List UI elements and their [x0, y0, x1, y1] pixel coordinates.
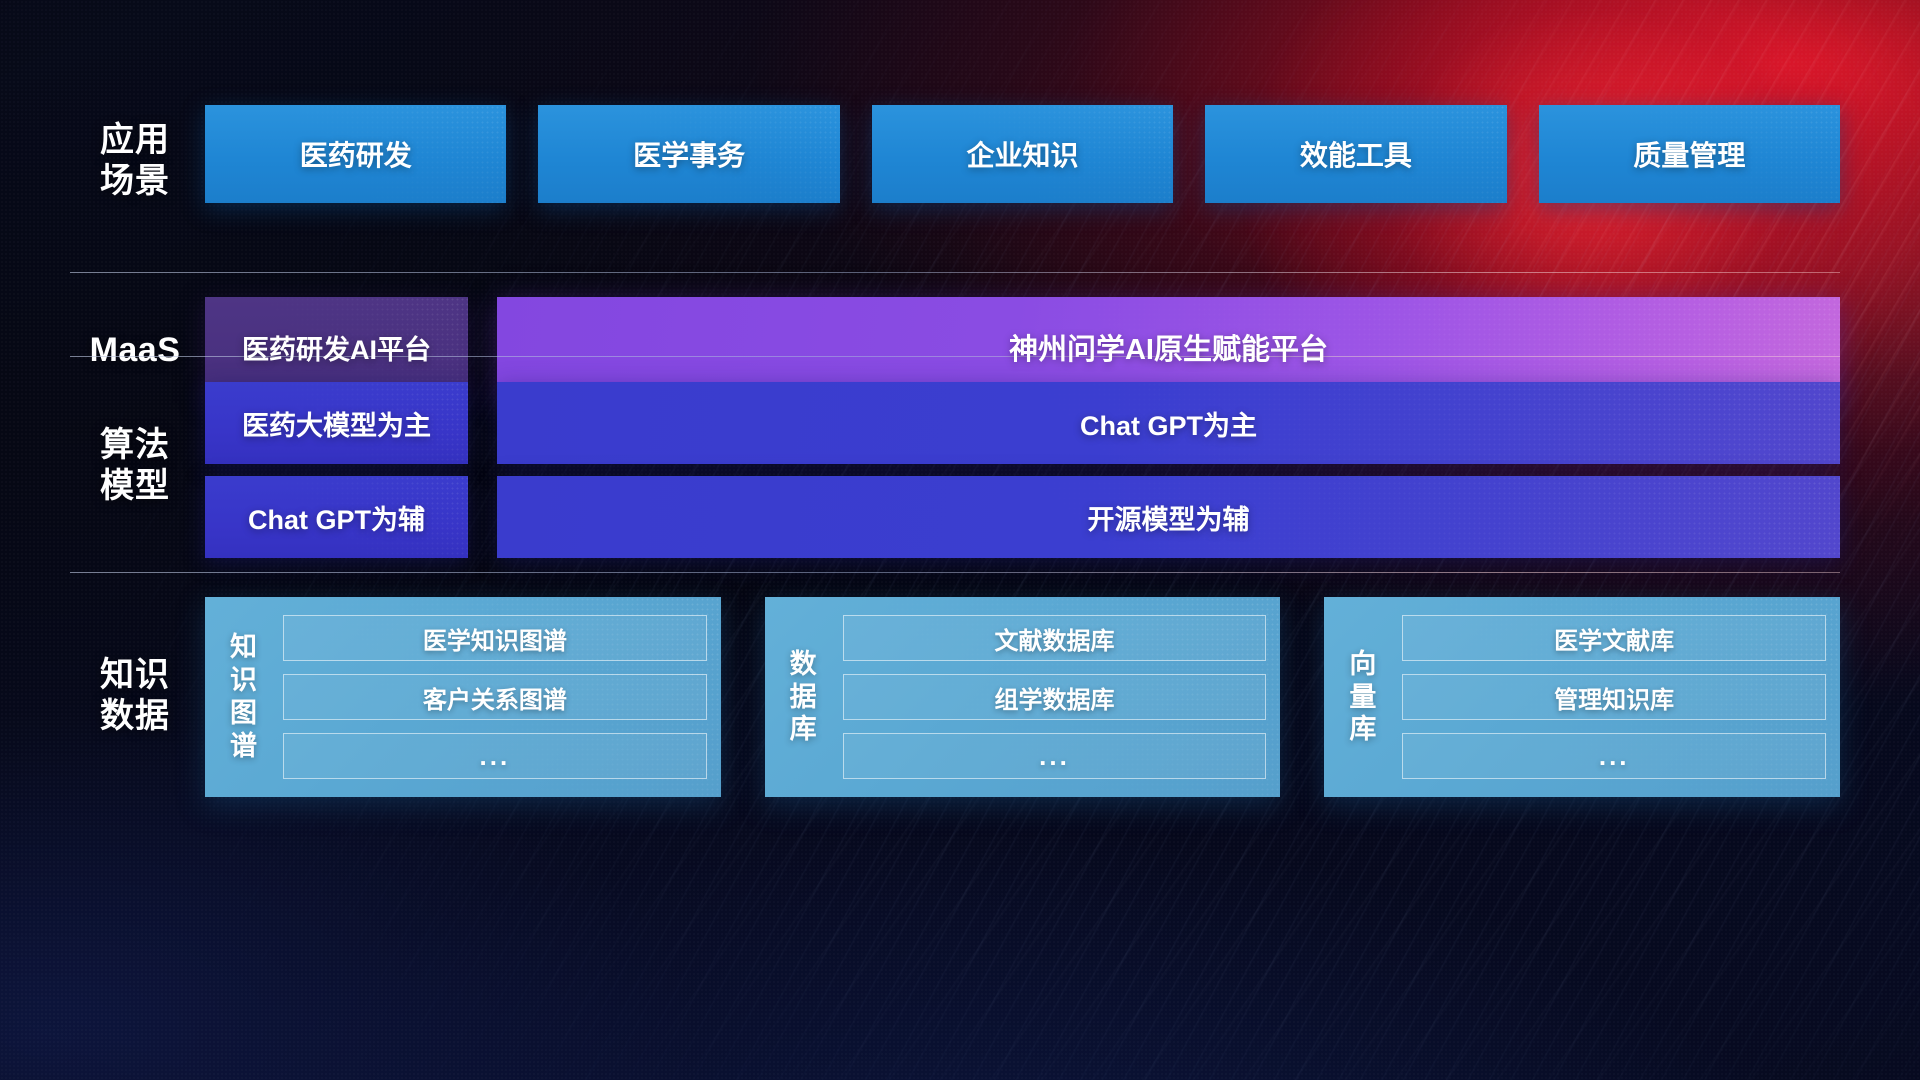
knowledge-item[interactable]: 管理知识库 [1402, 674, 1826, 720]
row-label-algorithm-models: 算法 模型 [70, 425, 200, 508]
row-label-line: 知识 [70, 655, 200, 696]
app-tile-label: 企业知识 [967, 134, 1079, 174]
row-label-line: 模型 [70, 466, 200, 507]
app-tile-medical-affairs[interactable]: 医学事务 [538, 105, 839, 203]
knowledge-card-title: 数据库 [765, 611, 843, 783]
diagram-content: 应用 场景 医药研发 医学事务 企业知识 效能工具 质量管理 [0, 0, 1920, 1080]
maas-tile-label: 神州问学AI原生赋能平台 [1009, 326, 1328, 368]
algorithm-tile-label: Chat GPT为主 [1080, 404, 1257, 443]
diagram-canvas: 应用 场景 医药研发 医学事务 企业知识 效能工具 质量管理 [0, 0, 1920, 1080]
app-tile-enterprise-knowledge[interactable]: 企业知识 [872, 105, 1173, 203]
row-label-application-scenarios: 应用 场景 [70, 120, 200, 203]
algorithm-tile-label: 医药大模型为主 [242, 404, 431, 443]
app-tile-quality-management[interactable]: 质量管理 [1539, 105, 1840, 203]
knowledge-card-knowledge-graph: 知识图谱 医学知识图谱 客户关系图谱 ... [205, 597, 721, 797]
knowledge-item-more[interactable]: ... [843, 733, 1267, 779]
row-label-line: 应用 [70, 120, 200, 161]
knowledge-card-items: 医学知识图谱 客户关系图谱 ... [283, 611, 707, 783]
knowledge-card-title-text: 知识图谱 [230, 631, 258, 763]
knowledge-item-more[interactable]: ... [1402, 733, 1826, 779]
algorithm-tile-label: Chat GPT为辅 [248, 498, 425, 537]
knowledge-card-database: 数据库 文献数据库 组学数据库 ... [765, 597, 1281, 797]
algorithm-tile-pharma-llm-primary[interactable]: 医药大模型为主 [205, 382, 468, 464]
knowledge-card-title: 知识图谱 [205, 611, 283, 783]
knowledge-card-title-text: 数据库 [790, 648, 818, 747]
row-label-knowledge-data: 知识 数据 [70, 655, 200, 738]
divider-application-maas [70, 272, 1840, 273]
algorithm-tile-chatgpt-primary[interactable]: Chat GPT为主 [497, 382, 1840, 464]
application-scenario-row: 医药研发 医学事务 企业知识 效能工具 质量管理 [205, 105, 1840, 203]
knowledge-item[interactable]: 医学文献库 [1402, 615, 1826, 661]
algorithm-row-primary: 医药大模型为主 Chat GPT为主 [205, 382, 1840, 464]
knowledge-data-row: 知识图谱 医学知识图谱 客户关系图谱 ... 数据库 文献数据库 组学数据库 .… [205, 597, 1840, 797]
row-label-line: MaaS [70, 330, 200, 371]
row-label-line: 数据 [70, 696, 200, 737]
app-tile-label: 效能工具 [1300, 134, 1412, 174]
row-label-line: 算法 [70, 425, 200, 466]
row-label-maas: MaaS [70, 330, 200, 371]
knowledge-item[interactable]: 客户关系图谱 [283, 674, 707, 720]
knowledge-card-title-text: 向量库 [1349, 648, 1377, 747]
knowledge-item[interactable]: 组学数据库 [843, 674, 1267, 720]
knowledge-card-items: 文献数据库 组学数据库 ... [843, 611, 1267, 783]
algorithm-row-secondary: Chat GPT为辅 开源模型为辅 [205, 476, 1840, 558]
algorithm-tile-chatgpt-secondary[interactable]: Chat GPT为辅 [205, 476, 468, 558]
knowledge-card-items: 医学文献库 管理知识库 ... [1402, 611, 1826, 783]
app-tile-medicine-rnd[interactable]: 医药研发 [205, 105, 506, 203]
app-tile-label: 质量管理 [1633, 134, 1745, 174]
knowledge-item-more[interactable]: ... [283, 733, 707, 779]
knowledge-card-vector-store: 向量库 医学文献库 管理知识库 ... [1324, 597, 1840, 797]
knowledge-item[interactable]: 医学知识图谱 [283, 615, 707, 661]
app-tile-efficiency-tools[interactable]: 效能工具 [1205, 105, 1506, 203]
app-tile-label: 医药研发 [300, 134, 412, 174]
app-tile-label: 医学事务 [633, 134, 745, 174]
knowledge-card-title: 向量库 [1324, 611, 1402, 783]
algorithm-tile-label: 开源模型为辅 [1088, 498, 1250, 537]
divider-algorithm-knowledge [70, 572, 1840, 573]
algorithm-tile-opensource-secondary[interactable]: 开源模型为辅 [497, 476, 1840, 558]
knowledge-item[interactable]: 文献数据库 [843, 615, 1267, 661]
row-label-line: 场景 [70, 161, 200, 202]
maas-tile-label: 医药研发AI平台 [242, 328, 431, 367]
